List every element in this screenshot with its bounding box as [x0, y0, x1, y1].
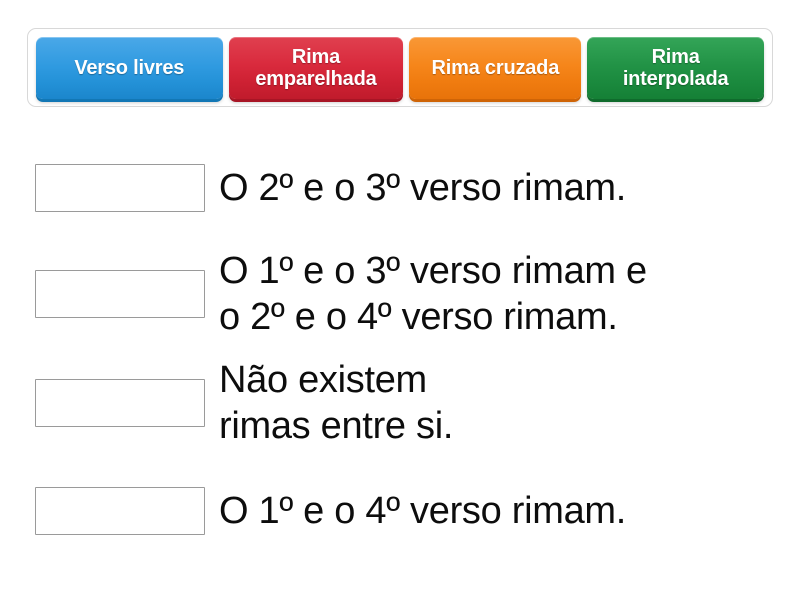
tile-label: Rima emparelhada — [238, 46, 395, 90]
draggable-tile-verso-livres[interactable]: Verso livres — [36, 37, 223, 99]
drop-zone-2[interactable] — [35, 270, 205, 318]
answer-row: O 1º e o 3º verso rimam e o 2º e o 4º ve… — [0, 240, 800, 348]
answer-row: O 2º e o 3º verso rimam. — [0, 136, 800, 240]
draggable-tile-rima-interpolada[interactable]: Rima interpolada — [587, 37, 764, 99]
draggable-tile-rima-cruzada[interactable]: Rima cruzada — [409, 37, 581, 99]
tile-label: Verso livres — [74, 57, 184, 79]
activity-canvas: Verso livres Rima emparelhada Rima cruza… — [0, 0, 800, 600]
draggable-tile-rima-emparelhada[interactable]: Rima emparelhada — [229, 37, 404, 99]
answer-rows: O 2º e o 3º verso rimam. O 1º e o 3º ver… — [0, 136, 800, 564]
drop-zone-3[interactable] — [35, 379, 205, 427]
answer-row: O 1º e o 4º verso rimam. — [0, 458, 800, 564]
tile-label: Rima cruzada — [431, 57, 559, 79]
drop-zone-4[interactable] — [35, 487, 205, 535]
drop-zone-1[interactable] — [35, 164, 205, 212]
answer-tile-tray: Verso livres Rima emparelhada Rima cruza… — [27, 28, 773, 107]
prompt-text-4: O 1º e o 4º verso rimam. — [219, 488, 784, 534]
prompt-text-1: O 2º e o 3º verso rimam. — [219, 165, 784, 211]
prompt-text-2: O 1º e o 3º verso rimam e o 2º e o 4º ve… — [219, 248, 784, 340]
prompt-text-3: Não existem rimas entre si. — [219, 357, 784, 449]
tile-label: Rima interpolada — [596, 46, 755, 90]
answer-row: Não existem rimas entre si. — [0, 348, 800, 458]
